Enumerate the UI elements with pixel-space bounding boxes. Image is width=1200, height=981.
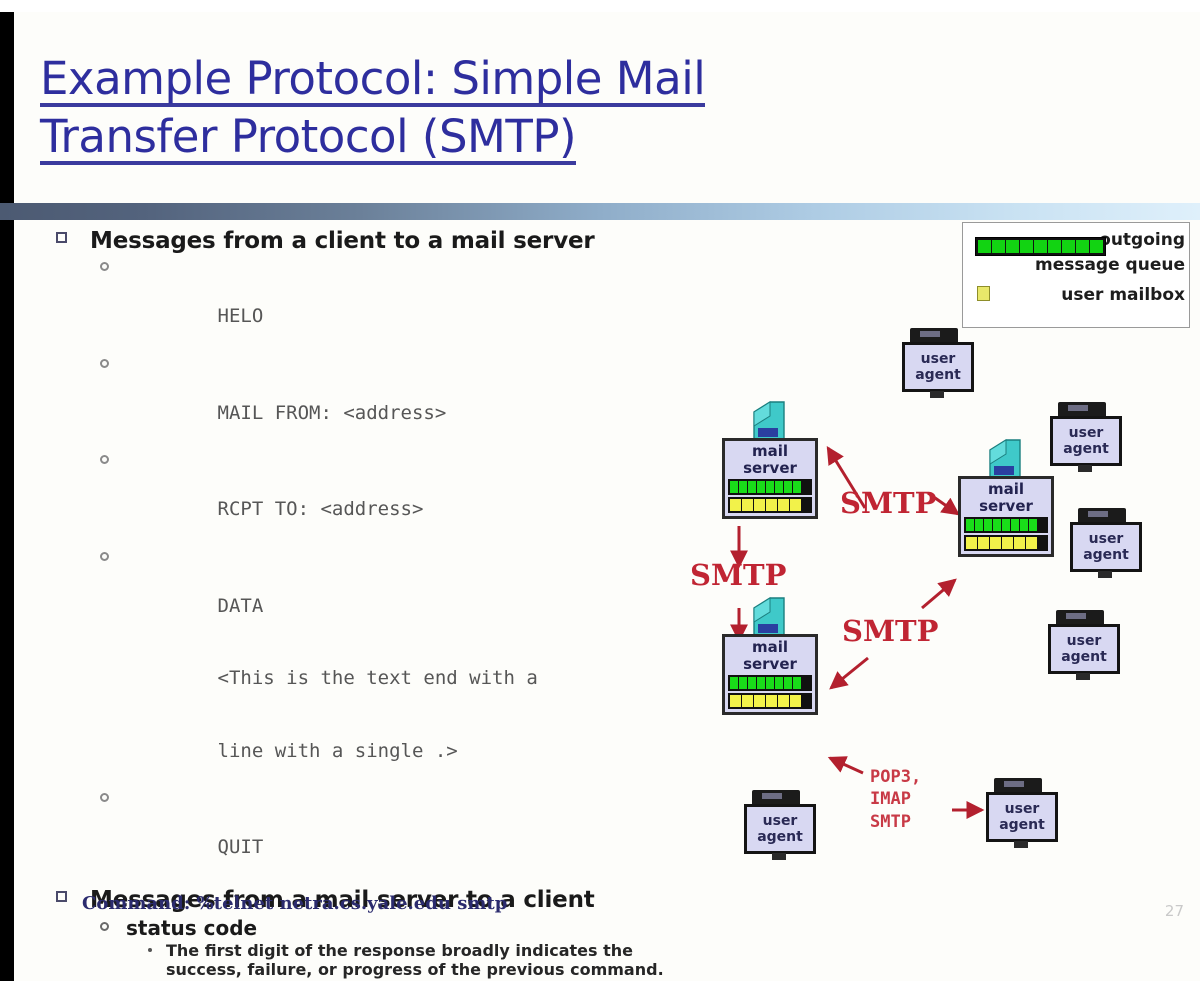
server-tower-icon <box>748 596 788 638</box>
mail-server-label-line2: server <box>961 498 1051 515</box>
user-agent-label-line1: user <box>1005 801 1040 817</box>
command-text: MAIL FROM: <address> <box>218 402 447 424</box>
command-text: RCPT TO: <address> <box>218 498 424 520</box>
circle-bullet-icon <box>100 922 109 931</box>
data-continuation-text: line with a single .> <box>218 740 458 762</box>
monitor-stand-icon <box>930 391 944 398</box>
data-continuation-line-2: line with a single .> <box>48 714 708 786</box>
user-agent-box: user agent <box>902 342 974 392</box>
slide-canvas: Example Protocol: Simple Mail Transfer P… <box>0 0 1200 981</box>
slide-number: 27 <box>1165 902 1184 920</box>
command-item-helo: HELO <box>48 256 708 353</box>
command-text: QUIT <box>218 836 264 858</box>
slide-top-edge <box>0 0 1200 12</box>
data-continuation-line-1: <This is the text end with a <box>48 642 708 714</box>
legend-mailbox-label: user mailbox <box>973 285 1185 305</box>
command-text: DATA <box>218 595 264 617</box>
user-agent-box: user agent <box>1050 416 1122 466</box>
monitor-stand-icon <box>1098 571 1112 578</box>
mail-server-label-line1: mail <box>725 443 815 460</box>
command-footer: Command: %telnet netra.cs.yale.edu smtp <box>82 893 507 914</box>
bullet-status-code: status code <box>48 916 708 940</box>
mail-server-box: mail server <box>722 438 818 519</box>
status-code-note: The first digit of the response broadly … <box>48 942 708 979</box>
command-item-quit: QUIT <box>48 787 708 884</box>
monitor-stand-icon <box>1014 841 1028 848</box>
mail-server-box: mail server <box>722 634 818 715</box>
arrow-smtp-to-ms3 <box>831 658 868 688</box>
circle-bullet-icon <box>100 359 109 368</box>
user-agent-box: user agent <box>1048 624 1120 674</box>
arrow-access-to-ms3 <box>830 758 863 773</box>
dot-bullet-icon <box>148 948 152 952</box>
arrow-smtp-to-ms2-lower <box>922 580 955 608</box>
title-divider-bar <box>0 203 1200 220</box>
user-agent-label-line1: user <box>1069 425 1104 441</box>
circle-bullet-icon <box>100 552 109 561</box>
command-item-mail-from: MAIL FROM: <address> <box>48 353 708 450</box>
mail-server-label-line1: mail <box>961 481 1051 498</box>
mail-server-label-line1: mail <box>725 639 815 656</box>
server-tower-icon <box>984 438 1024 480</box>
access-protocol-labels: POP3, IMAP SMTP <box>870 766 921 833</box>
user-mailbox-bar <box>728 497 812 513</box>
status-code-label: status code <box>126 916 257 940</box>
access-protocol-pop3: POP3, <box>870 766 921 788</box>
outgoing-queue-icon <box>975 237 1106 256</box>
legend-queue-label-line2: message queue <box>973 253 1185 278</box>
status-code-note-text: The first digit of the response broadly … <box>166 941 664 979</box>
user-agent-label-line1: user <box>1089 531 1124 547</box>
body-content: Messages from a client to a mail server … <box>48 228 708 981</box>
mail-server-box: mail server <box>958 476 1054 557</box>
user-agent-box: user agent <box>986 792 1058 842</box>
title-line-1: Example Protocol: Simple Mail <box>40 56 705 107</box>
data-continuation-text: <This is the text end with a <box>218 667 538 689</box>
user-mailbox-bar <box>964 535 1048 551</box>
protocol-label-smtp-1: SMTP <box>840 486 936 520</box>
circle-bullet-icon <box>100 262 109 271</box>
user-agent-label-line2: agent <box>757 829 803 845</box>
smtp-architecture-diagram: mail server mail server <box>700 318 1200 898</box>
outgoing-queue-bar <box>964 517 1048 533</box>
user-agent-label-line2: agent <box>1083 547 1129 563</box>
user-mailbox-icon <box>977 286 990 301</box>
user-agent-label-line1: user <box>921 351 956 367</box>
page-title: Example Protocol: Simple Mail Transfer P… <box>40 56 940 172</box>
mail-server-label-line2: server <box>725 460 815 477</box>
user-agent-label-line1: user <box>763 813 798 829</box>
bullet-section1-heading: Messages from a client to a mail server <box>48 228 708 254</box>
monitor-stand-icon <box>1078 465 1092 472</box>
protocol-label-smtp-3: SMTP <box>842 614 938 648</box>
title-line-2: Transfer Protocol (SMTP) <box>40 114 576 165</box>
access-protocol-imap: IMAP <box>870 788 921 810</box>
command-text: HELO <box>218 305 264 327</box>
user-agent-label-line2: agent <box>915 367 961 383</box>
user-agent-label-line2: agent <box>1063 441 1109 457</box>
protocol-label-smtp-2: SMTP <box>690 558 786 592</box>
user-agent-label-line2: agent <box>1061 649 1107 665</box>
command-item-data: DATA <box>48 546 708 643</box>
monitor-stand-icon <box>1076 673 1090 680</box>
circle-bullet-icon <box>100 793 109 802</box>
monitor-stand-icon <box>772 853 786 860</box>
user-agent-box: user agent <box>744 804 816 854</box>
legend-queue-swatch <box>975 231 1106 256</box>
access-protocol-smtp: SMTP <box>870 811 921 833</box>
user-agent-label-line2: agent <box>999 817 1045 833</box>
square-bullet-icon <box>56 891 67 902</box>
server-tower-icon <box>748 400 788 442</box>
square-bullet-icon <box>56 232 67 243</box>
user-mailbox-bar <box>728 693 812 709</box>
section1-heading-text: Messages from a client to a mail server <box>90 228 595 254</box>
user-agent-label-line1: user <box>1067 633 1102 649</box>
user-agent-box: user agent <box>1070 522 1142 572</box>
command-item-rcpt-to: RCPT TO: <address> <box>48 449 708 546</box>
mail-server-label-line2: server <box>725 656 815 673</box>
diagram-legend: outgoing message queue user mailbox <box>962 222 1190 328</box>
legend-mailbox-swatch <box>977 286 990 306</box>
circle-bullet-icon <box>100 455 109 464</box>
outgoing-queue-bar <box>728 675 812 691</box>
outgoing-queue-bar <box>728 479 812 495</box>
slide-left-edge <box>0 0 14 981</box>
